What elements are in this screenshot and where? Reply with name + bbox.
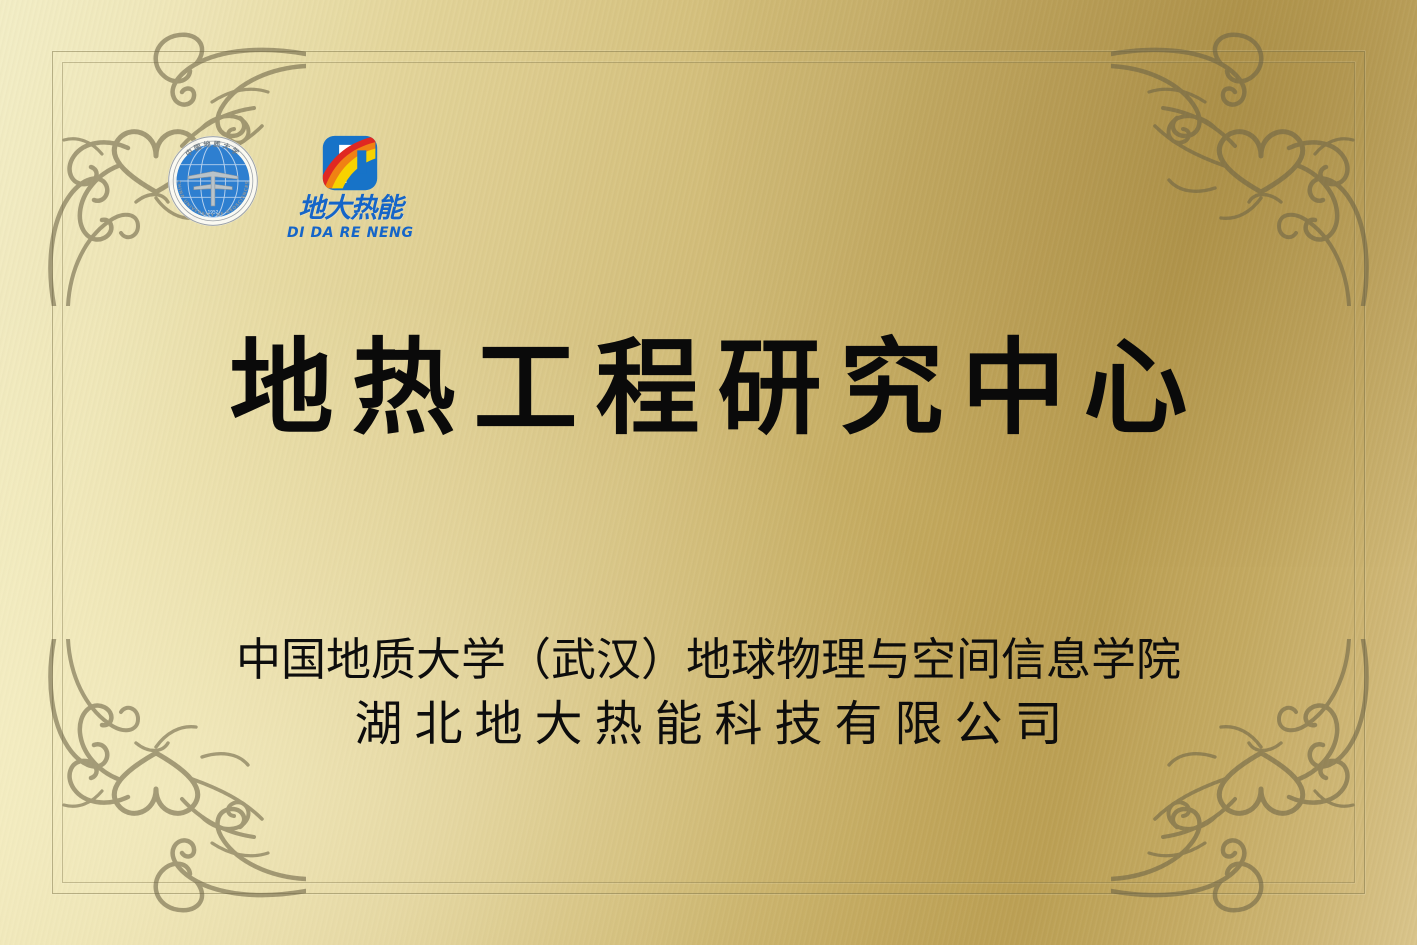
university-logo: 中国地质大学 CHINA UNIVERSITY OF GEOSCIENCES 1… <box>165 133 261 229</box>
company-logo: 地大热能 DI DA RE NENG <box>287 133 414 240</box>
company-logo-mark <box>321 134 379 192</box>
university-logo-year: 1952 <box>208 210 219 215</box>
plaque-footer: 中国地质大学（武汉）地球物理与空间信息学院 湖北地大热能科技有限公司 <box>0 636 1417 750</box>
footer-line-university: 中国地质大学（武汉）地球物理与空间信息学院 <box>0 636 1417 685</box>
corner-flourish-top-right <box>1111 6 1411 306</box>
award-plaque: 中国地质大学 CHINA UNIVERSITY OF GEOSCIENCES 1… <box>0 0 1417 945</box>
company-logo-pinyin-text: DI DA RE NENG <box>287 226 414 240</box>
plaque-title: 地热工程研究中心 <box>0 334 1417 442</box>
logo-row: 中国地质大学 CHINA UNIVERSITY OF GEOSCIENCES 1… <box>165 133 414 240</box>
shadow-sheen <box>709 0 1417 567</box>
company-logo-cn-text: 地大热能 <box>298 195 402 222</box>
footer-line-company: 湖北地大热能科技有限公司 <box>0 699 1417 751</box>
